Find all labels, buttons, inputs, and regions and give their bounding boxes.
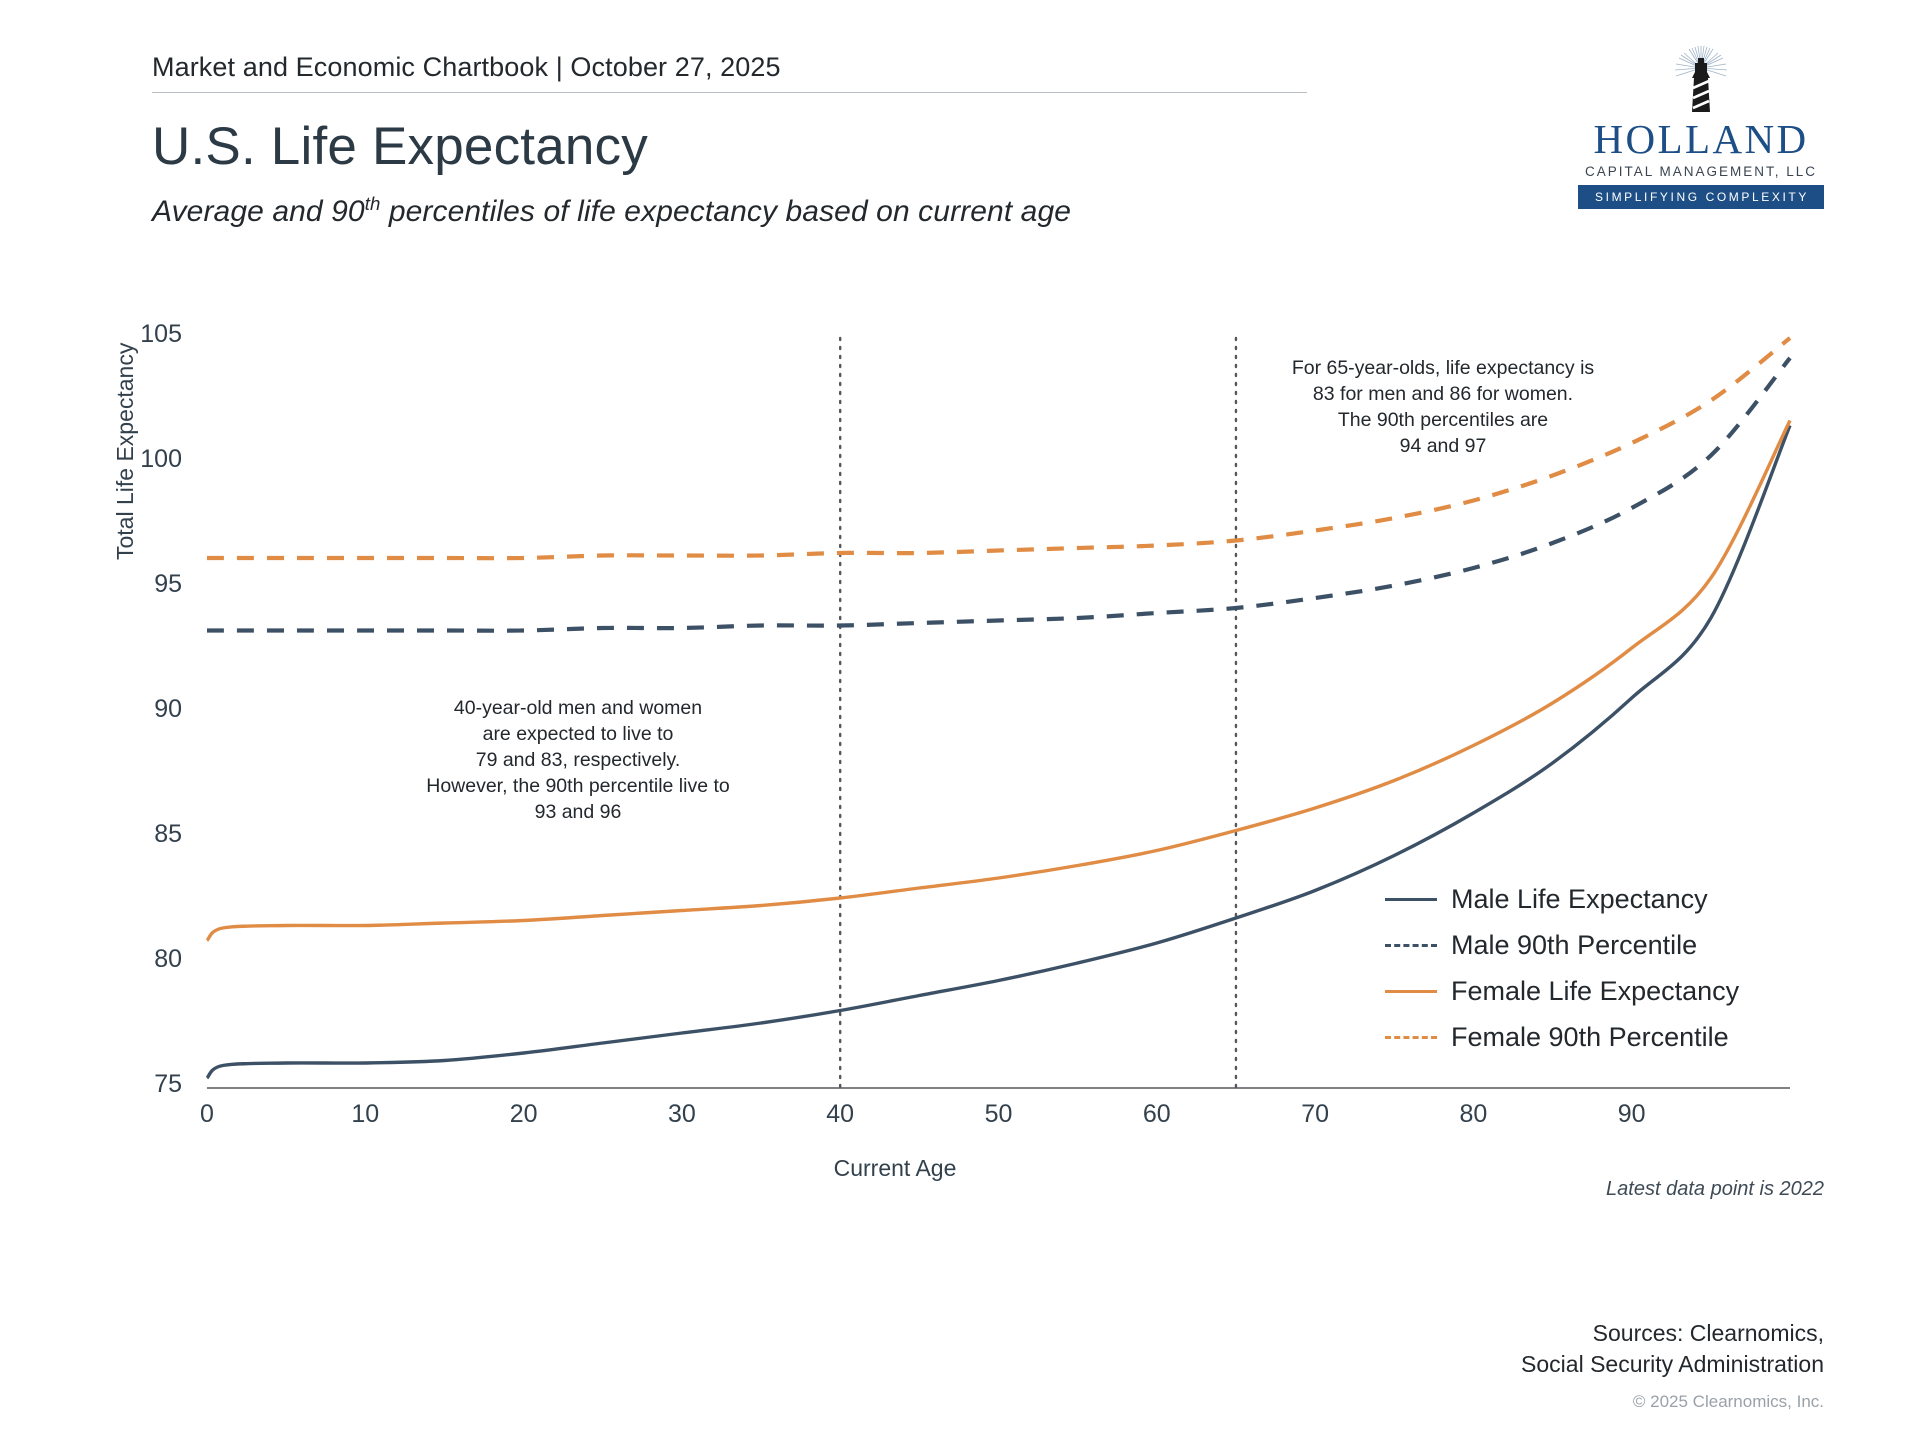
company-logo: HOLLAND CAPITAL MANAGEMENT, LLC SIMPLIFY… xyxy=(1578,42,1824,209)
y-tick-80: 80 xyxy=(0,945,182,974)
latest-data-note: Latest data point is 2022 xyxy=(1606,1178,1824,1201)
subtitle-post: percentiles of life expectancy based on … xyxy=(380,195,1071,228)
y-tick-90: 90 xyxy=(0,695,182,724)
sources-line-1: Sources: Clearnomics, xyxy=(1521,1318,1824,1349)
logo-company-name: HOLLAND xyxy=(1578,119,1824,160)
page-title: U.S. Life Expectancy xyxy=(152,119,1292,175)
y-tick-85: 85 xyxy=(0,820,182,849)
legend-swatch-dashed xyxy=(1385,1028,1437,1046)
y-tick-100: 100 xyxy=(0,445,182,474)
x-tick-90: 90 xyxy=(1592,1100,1672,1129)
legend-swatch-dashed xyxy=(1385,936,1437,954)
x-tick-40: 40 xyxy=(800,1100,880,1129)
x-tick-60: 60 xyxy=(1117,1100,1197,1129)
copyright-note: © 2025 Clearnomics, Inc. xyxy=(1633,1392,1824,1412)
legend-item-0[interactable]: Male Life Expectancy xyxy=(1385,876,1739,922)
y-tick-105: 105 xyxy=(0,320,182,349)
annotation-age-65: For 65-year-olds, life expectancy is 83 … xyxy=(1258,356,1628,460)
x-tick-30: 30 xyxy=(642,1100,722,1129)
annotation-age-40: 40-year-old men and women are expected t… xyxy=(408,696,748,826)
x-tick-80: 80 xyxy=(1433,1100,1513,1129)
sources-note: Sources: Clearnomics, Social Security Ad… xyxy=(1521,1318,1824,1380)
series-female-life-expectancy xyxy=(207,421,1790,941)
legend-item-1[interactable]: Male 90th Percentile xyxy=(1385,922,1739,968)
chartbook-eyebrow: Market and Economic Chartbook | October … xyxy=(152,52,1292,92)
logo-tagline: SIMPLIFYING COMPLEXITY xyxy=(1578,185,1824,209)
chart-legend: Male Life ExpectancyMale 90th Percentile… xyxy=(1385,876,1739,1060)
legend-label: Male Life Expectancy xyxy=(1451,884,1708,915)
subtitle-ordinal: th xyxy=(365,193,381,214)
header-divider xyxy=(152,92,1307,93)
y-tick-95: 95 xyxy=(0,570,182,599)
page-subtitle: Average and 90th percentiles of life exp… xyxy=(152,193,1292,229)
legend-label: Female 90th Percentile xyxy=(1451,1022,1729,1053)
legend-item-2[interactable]: Female Life Expectancy xyxy=(1385,968,1739,1014)
lighthouse-icon xyxy=(1578,42,1824,118)
page-header: Market and Economic Chartbook | October … xyxy=(152,52,1292,229)
x-tick-10: 10 xyxy=(325,1100,405,1129)
x-tick-0: 0 xyxy=(167,1100,247,1129)
x-tick-20: 20 xyxy=(484,1100,564,1129)
subtitle-pre: Average and 90 xyxy=(152,195,365,228)
x-tick-70: 70 xyxy=(1275,1100,1355,1129)
legend-label: Female Life Expectancy xyxy=(1451,976,1739,1007)
x-tick-50: 50 xyxy=(959,1100,1039,1129)
legend-label: Male 90th Percentile xyxy=(1451,930,1697,961)
sources-line-2: Social Security Administration xyxy=(1521,1349,1824,1380)
logo-company-subtitle: CAPITAL MANAGEMENT, LLC xyxy=(1578,164,1824,179)
y-tick-75: 75 xyxy=(0,1070,182,1099)
legend-item-3[interactable]: Female 90th Percentile xyxy=(1385,1014,1739,1060)
legend-swatch-solid xyxy=(1385,890,1437,908)
legend-swatch-solid xyxy=(1385,982,1437,1000)
